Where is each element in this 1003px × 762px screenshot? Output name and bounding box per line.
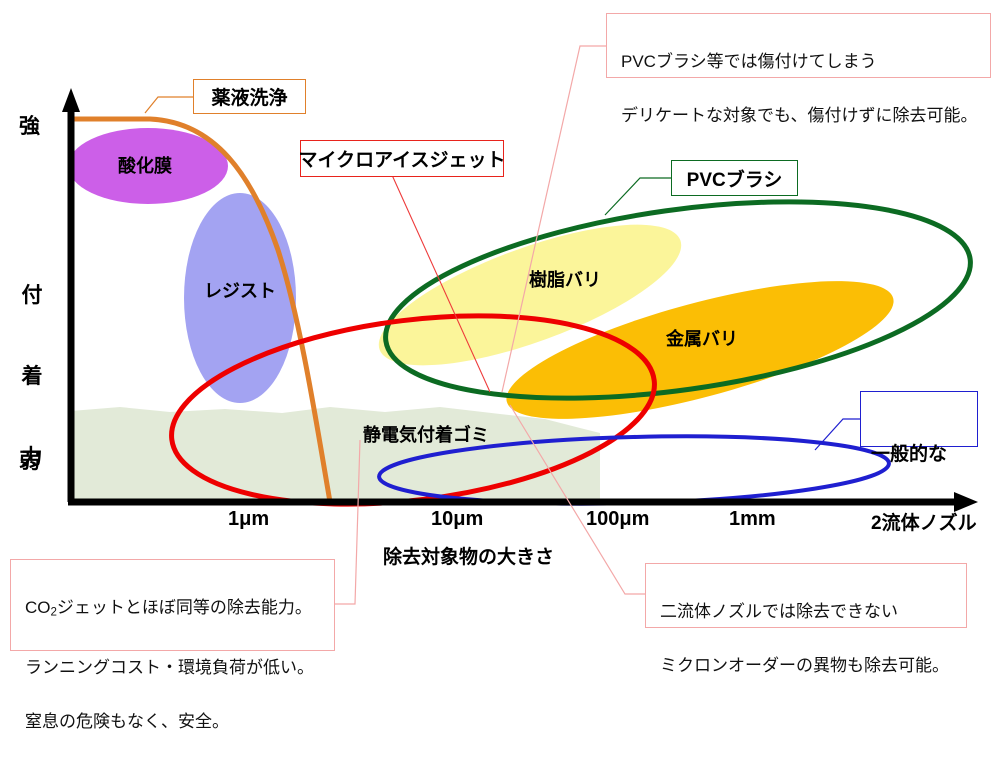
note-top-right-line-2: デリケートな対象でも、傷付けずに除去可能。 [621, 102, 978, 129]
x-tick-100um: 100μm [586, 508, 649, 531]
note-bottom-right[interactable]: 二流体ノズルでは除去できない ミクロンオーダーの異物も除去可能。 [645, 563, 967, 628]
region-label-resin-burr: 樹脂バリ [529, 266, 601, 292]
note-bottom-left-line-3: 窒息の危険もなく、安全。 [25, 708, 322, 735]
x-tick-1um: 1μm [228, 508, 269, 531]
region-label-resist: レジスト [204, 277, 276, 303]
note-bottom-left[interactable]: CO2ジェットとほぼ同等の除去能力。 ランニングコスト・環境負荷が低い。 窒息の… [10, 559, 335, 651]
x-tick-1mm: 1mm [729, 508, 776, 531]
two-fluid-nozzle-line-1: 一般的な [871, 443, 977, 466]
two-fluid-nozzle-line-2: 2流体ノズル [871, 512, 977, 535]
label-box-chemical-clean[interactable]: 薬液洗浄 [193, 79, 306, 114]
y-axis-title: 付 着 力 [19, 228, 45, 525]
x-tick-10um: 10μm [431, 508, 483, 531]
region-label-oxide-film: 酸化膜 [118, 152, 172, 178]
x-axis-title: 除去対象物の大きさ [383, 542, 554, 569]
label-box-two-fluid-nozzle[interactable]: 一般的な 2流体ノズル [860, 391, 978, 447]
y-axis-title-char-2: 着 [19, 363, 45, 390]
y-axis-top-label: 強 [19, 110, 40, 140]
label-box-pvc-brush[interactable]: PVCブラシ [671, 160, 798, 196]
y-axis-bottom-label: 弱 [19, 445, 40, 475]
y-axis-arrowhead [62, 88, 80, 112]
chemical-clean-leader [145, 97, 193, 113]
note-bottom-right-line-2: ミクロンオーダーの異物も除去可能。 [660, 652, 954, 679]
region-label-static-dust: 静電気付着ゴミ [363, 421, 489, 447]
diagram-canvas: 強 付 着 力 弱 1μm 10μm 100μm 1mm 除去対象物の大きさ 酸… [0, 0, 1003, 659]
y-axis-title-char-1: 付 [19, 282, 45, 309]
note-bottom-left-line-1: CO2ジェットとほぼ同等の除去能力。 [25, 594, 322, 627]
note-bottom-left-line-1-rest: ジェットとほぼ同等の除去能力。 [57, 598, 312, 617]
note-top-right[interactable]: PVCブラシ等では傷付けてしまう デリケートな対象でも、傷付けずに除去可能。 [606, 13, 991, 78]
label-box-micro-ice-jet[interactable]: マイクロアイスジェット [300, 140, 504, 177]
co2-text: CO [25, 598, 51, 617]
note-bottom-left-line-2: ランニングコスト・環境負荷が低い。 [25, 654, 322, 681]
note-bottom-right-line-1: 二流体ノズルでは除去できない [660, 598, 954, 625]
region-label-metal-burr: 金属バリ [666, 325, 738, 351]
static-dust-band [71, 407, 600, 501]
note-top-right-line-1: PVCブラシ等では傷付けてしまう [621, 48, 978, 75]
